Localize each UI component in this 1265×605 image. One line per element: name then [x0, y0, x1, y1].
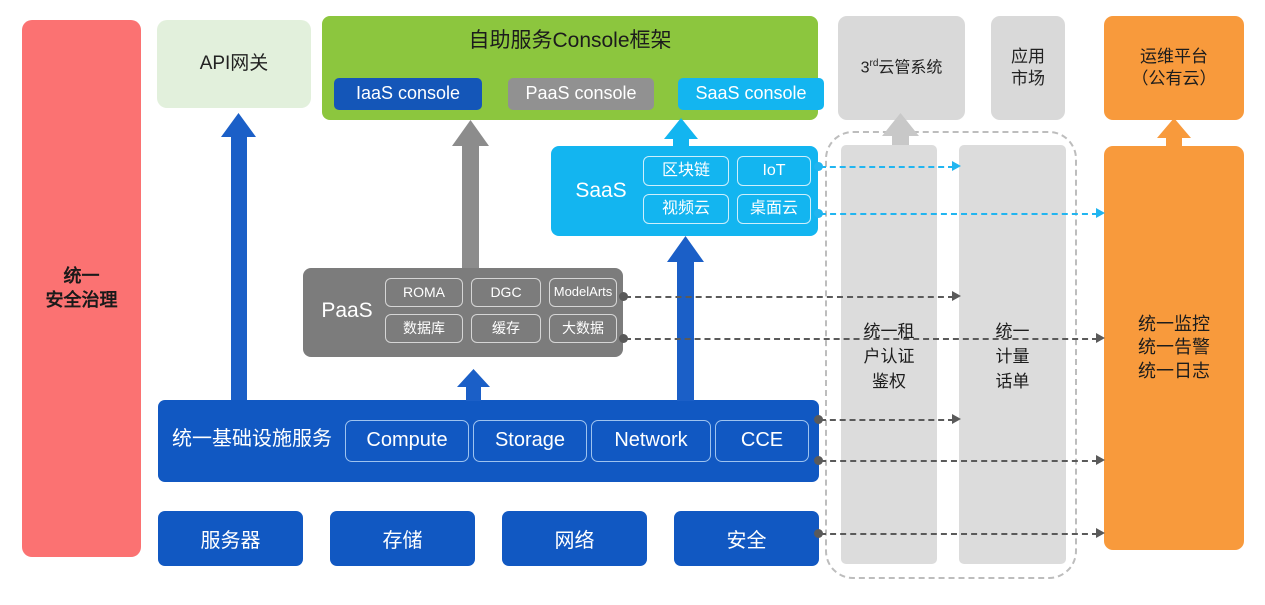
saas-chip-blockchain[interactable]: 区块链 — [643, 156, 729, 186]
paas-chip-roma[interactable]: ROMA — [385, 278, 463, 307]
unified-security-governance-label: 统一 安全治理 — [46, 265, 118, 311]
resource-box-network[interactable]: 网络 — [502, 511, 647, 566]
console-panel-title: 自助服务Console框架 — [322, 28, 818, 55]
saas-layer-box[interactable]: SaaS 区块链 IoT 视频云 桌面云 — [551, 146, 818, 236]
unified-metering-billing-column[interactable]: 统一 计量 话单 — [959, 145, 1066, 564]
app-market-label: 应用 市场 — [1011, 46, 1045, 90]
infra-chip-network[interactable]: Network — [591, 420, 711, 462]
arrowhead-infra-to-auth — [952, 414, 964, 424]
saas-chip-video-cloud[interactable]: 视频云 — [643, 194, 729, 224]
arrow-paas-to-console — [452, 120, 489, 268]
saas-chip-desktop-cloud[interactable]: 桌面云 — [737, 194, 811, 224]
ops-platform-public-cloud-label: 运维平台 （公有云） — [1132, 46, 1217, 90]
unified-tenant-auth-label: 统一租 户认证 鉴权 — [864, 317, 915, 392]
api-gateway-box[interactable]: API网关 — [157, 20, 311, 108]
paas-chip-database[interactable]: 数据库 — [385, 314, 463, 343]
paas-chip-dgc[interactable]: DGC — [471, 278, 541, 307]
third-party-cloud-management-box[interactable]: 3rd云管系统 — [838, 16, 965, 120]
connector-resources-to-ops — [820, 533, 1098, 535]
arrowhead-resources-to-ops — [1096, 528, 1108, 538]
unified-metering-billing-label: 统一 计量 话单 — [996, 317, 1030, 392]
paas-chip-bigdata[interactable]: 大数据 — [549, 314, 617, 343]
unified-security-governance-panel[interactable]: 统一 安全治理 — [22, 20, 141, 557]
arrowhead-saas-to-auth — [952, 161, 964, 171]
paas-console-button[interactable]: PaaS console — [508, 78, 654, 110]
arrowhead-paas-to-auth — [952, 291, 964, 301]
arrowhead-infra-to-ops — [1096, 455, 1108, 465]
saas-console-button[interactable]: SaaS console — [678, 78, 824, 110]
infra-chip-compute[interactable]: Compute — [345, 420, 469, 462]
arrowhead-saas-to-ops — [1096, 208, 1108, 218]
architecture-diagram: 统一 安全治理 API网关 自助服务Console框架 IaaS console… — [0, 0, 1265, 605]
paas-layer-box[interactable]: PaaS ROMA DGC ModelArts 数据库 缓存 大数据 — [303, 268, 623, 357]
connector-paas-to-ops — [625, 338, 1098, 340]
arrow-saas-to-console — [664, 118, 698, 147]
app-market-box[interactable]: 应用 市场 — [991, 16, 1065, 120]
iaas-console-button[interactable]: IaaS console — [334, 78, 482, 110]
self-service-console-panel[interactable]: 自助服务Console框架 IaaS console PaaS console … — [322, 16, 818, 120]
arrow-infra-to-api-gateway — [221, 113, 256, 400]
arrow-infra-to-saas — [667, 236, 704, 401]
connector-paas-to-auth — [625, 296, 954, 298]
infra-chip-storage[interactable]: Storage — [473, 420, 587, 462]
arrow-to-ops-platform — [1157, 118, 1191, 146]
resource-box-storage[interactable]: 存储 — [330, 511, 475, 566]
paas-chip-cache[interactable]: 缓存 — [471, 314, 541, 343]
connector-saas-to-auth — [820, 166, 954, 168]
ops-monitoring-label: 统一监控 统一告警 统一日志 — [1138, 313, 1210, 382]
paas-layer-label: PaaS — [311, 298, 383, 325]
resource-box-security[interactable]: 安全 — [674, 511, 819, 566]
infra-chip-cce[interactable]: CCE — [715, 420, 809, 462]
ops-monitoring-panel[interactable]: 统一监控 统一告警 统一日志 — [1104, 146, 1244, 550]
saas-layer-label: SaaS — [565, 178, 637, 205]
api-gateway-label: API网关 — [200, 52, 269, 76]
unified-tenant-auth-column[interactable]: 统一租 户认证 鉴权 — [841, 145, 937, 564]
connector-infra-to-ops — [820, 460, 1098, 462]
unified-infrastructure-label: 统一基础设施服务 — [172, 427, 332, 453]
connector-infra-to-auth — [820, 419, 954, 421]
ops-platform-public-cloud-box[interactable]: 运维平台 （公有云） — [1104, 16, 1244, 120]
paas-chip-modelarts[interactable]: ModelArts — [549, 278, 617, 307]
arrowhead-paas-to-ops — [1096, 333, 1108, 343]
saas-chip-iot[interactable]: IoT — [737, 156, 811, 186]
connector-saas-to-ops — [820, 213, 1098, 215]
arrow-infra-to-paas — [457, 369, 490, 401]
third-party-cloud-management-label: 3rd云管系统 — [861, 58, 943, 79]
unified-infrastructure-bar[interactable]: 统一基础设施服务 Compute Storage Network CCE — [158, 400, 819, 482]
resource-box-server[interactable]: 服务器 — [158, 511, 303, 566]
